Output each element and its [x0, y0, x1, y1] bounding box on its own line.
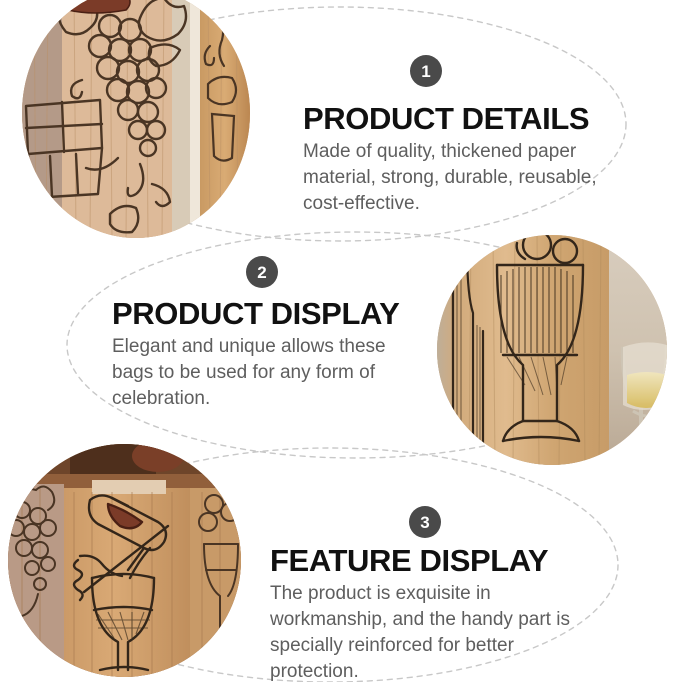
section-3-title: FEATURE DISPLAY [270, 545, 590, 578]
step-badge-3-number: 3 [420, 514, 429, 531]
section-3-body: The product is exquisite in workmanship,… [270, 581, 590, 682]
step-badge-1-number: 1 [421, 63, 430, 80]
section-1-title: PRODUCT DETAILS [303, 103, 603, 136]
step-badge-3: 3 [409, 506, 441, 538]
section-2-title: PRODUCT DISPLAY [112, 298, 422, 331]
wine-bag-pouring-bottle-photo [8, 444, 241, 677]
step-badge-1: 1 [410, 55, 442, 87]
section-2-text: PRODUCT DISPLAY Elegant and unique allow… [112, 298, 422, 412]
section-3-text: FEATURE DISPLAY The product is exquisite… [270, 545, 590, 682]
wine-bag-grape-cluster-photo [22, 0, 250, 238]
section-2-body: Elegant and unique allows these bags to … [112, 334, 422, 412]
section-1-body: Made of quality, thickened paper materia… [303, 139, 603, 217]
product-infographic: 1 2 3 PRODUCT DETAILS Made of quality, t… [0, 0, 679, 682]
step-badge-2: 2 [246, 256, 278, 288]
section-1-text: PRODUCT DETAILS Made of quality, thicken… [303, 103, 603, 217]
wine-bag-wine-glass-photo [437, 235, 667, 465]
step-badge-2-number: 2 [257, 264, 266, 281]
